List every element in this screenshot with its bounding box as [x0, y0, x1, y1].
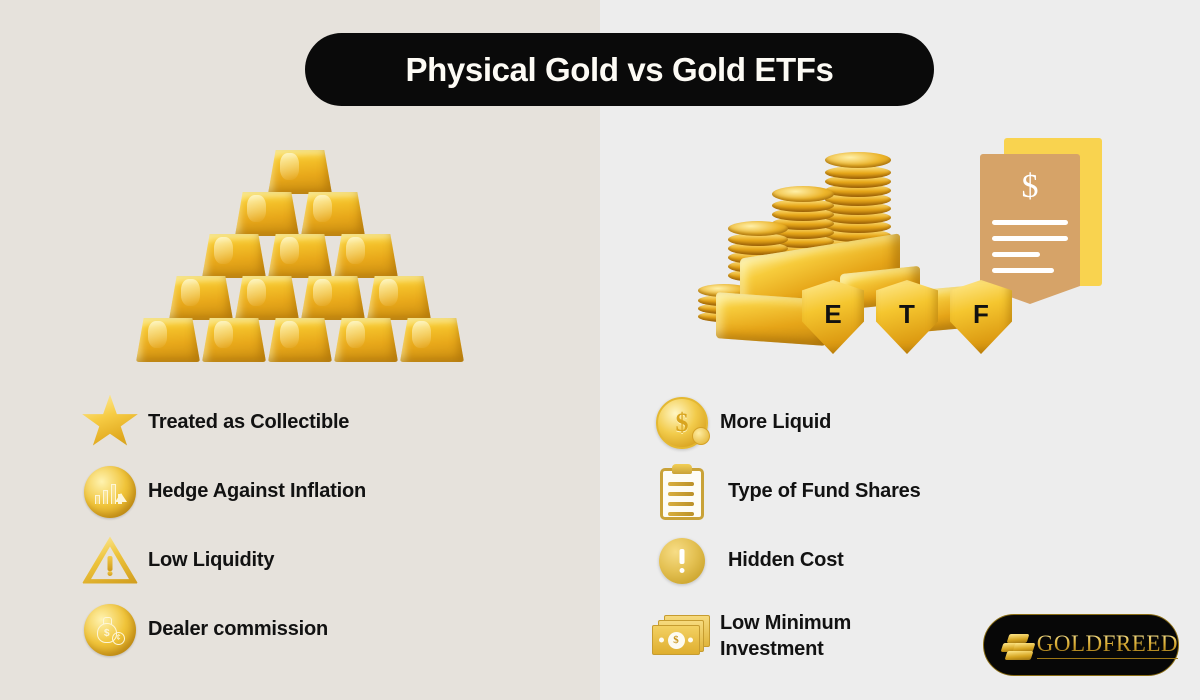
- feature-label: Dealer commission: [148, 617, 328, 643]
- feature-item-type-of-fund-shares: Type of Fund Shares: [644, 457, 1200, 526]
- pyramid-row: [120, 318, 480, 362]
- brand-logo[interactable]: GOLDFREED: [983, 614, 1179, 676]
- feature-label: Treated as Collectible: [148, 410, 349, 436]
- gold-bar: [136, 318, 200, 362]
- feature-label: Low Liquidity: [148, 548, 274, 574]
- gold-bar: [235, 192, 299, 236]
- feature-item-more-liquid: $ More Liquid: [644, 388, 1200, 457]
- brand-name: GOLDFREED: [1037, 631, 1178, 659]
- gold-bar: [202, 318, 266, 362]
- gold-bars-icon: [1002, 632, 1029, 658]
- pyramid-row: [120, 234, 480, 278]
- shield-letter-f: F: [950, 280, 1012, 354]
- money-bag-icon: $ ¢: [72, 604, 148, 656]
- gold-bar: [334, 318, 398, 362]
- pyramid-row: [120, 192, 480, 236]
- gold-bar-pyramid-illustration: [120, 128, 480, 360]
- feature-item-hedge-against-inflation: Hedge Against Inflation: [72, 457, 600, 526]
- banknote-icon: $: [644, 615, 720, 659]
- page-title: Physical Gold vs Gold ETFs: [406, 51, 834, 89]
- gold-bar: [202, 234, 266, 278]
- dollar-coin-icon: $: [644, 397, 720, 449]
- document-front-card: $: [980, 154, 1080, 304]
- feature-item-low-liquidity: Low Liquidity: [72, 526, 600, 595]
- document-line: [992, 236, 1068, 241]
- gold-bar: [268, 234, 332, 278]
- chart-growth-icon: [72, 466, 148, 518]
- gold-etf-illustration: $: [680, 128, 1110, 358]
- gold-bar: [169, 276, 233, 320]
- feature-label-line-2: Investment: [720, 637, 851, 663]
- gold-bar: [268, 318, 332, 362]
- gold-bar: [268, 150, 332, 194]
- feature-item-dealer-commission: $ ¢ Dealer commission: [72, 595, 600, 664]
- shield-label: F: [973, 299, 989, 330]
- feature-item-hidden-cost: Hidden Cost: [644, 526, 1200, 595]
- exclamation-coin-icon: [644, 538, 720, 584]
- star-icon: [72, 395, 148, 451]
- document-dollar-symbol: $: [980, 168, 1080, 206]
- feature-item-treated-as-collectible: Treated as Collectible: [72, 388, 600, 457]
- clipboard-icon: [644, 464, 720, 520]
- gold-bar: [301, 192, 365, 236]
- feature-label: More Liquid: [720, 410, 831, 436]
- page-title-pill: Physical Gold vs Gold ETFs: [305, 33, 934, 106]
- shield-letter-t: T: [876, 280, 938, 354]
- physical-gold-feature-list: Treated as Collectible Hedge Against Inf…: [0, 388, 600, 664]
- feature-label-line-1: Low Minimum: [720, 611, 851, 637]
- gold-bar: [367, 276, 431, 320]
- shield-label: T: [899, 299, 915, 330]
- shield-label: E: [824, 299, 841, 330]
- gold-bar: [334, 234, 398, 278]
- feature-label: Hedge Against Inflation: [148, 479, 366, 505]
- feature-label: Hidden Cost: [720, 548, 844, 574]
- document-line: [992, 220, 1068, 225]
- gold-bar: [400, 318, 464, 362]
- feature-label: Type of Fund Shares: [720, 479, 921, 505]
- pyramid-row: [120, 276, 480, 320]
- gold-bar-pyramid: [120, 150, 480, 360]
- feature-label: Low Minimum Investment: [720, 611, 851, 662]
- warning-triangle-icon: [72, 536, 148, 586]
- document-line: [992, 252, 1040, 257]
- document-line: [992, 268, 1054, 273]
- gold-bar: [235, 276, 299, 320]
- pyramid-row: [120, 150, 480, 194]
- gold-bar: [301, 276, 365, 320]
